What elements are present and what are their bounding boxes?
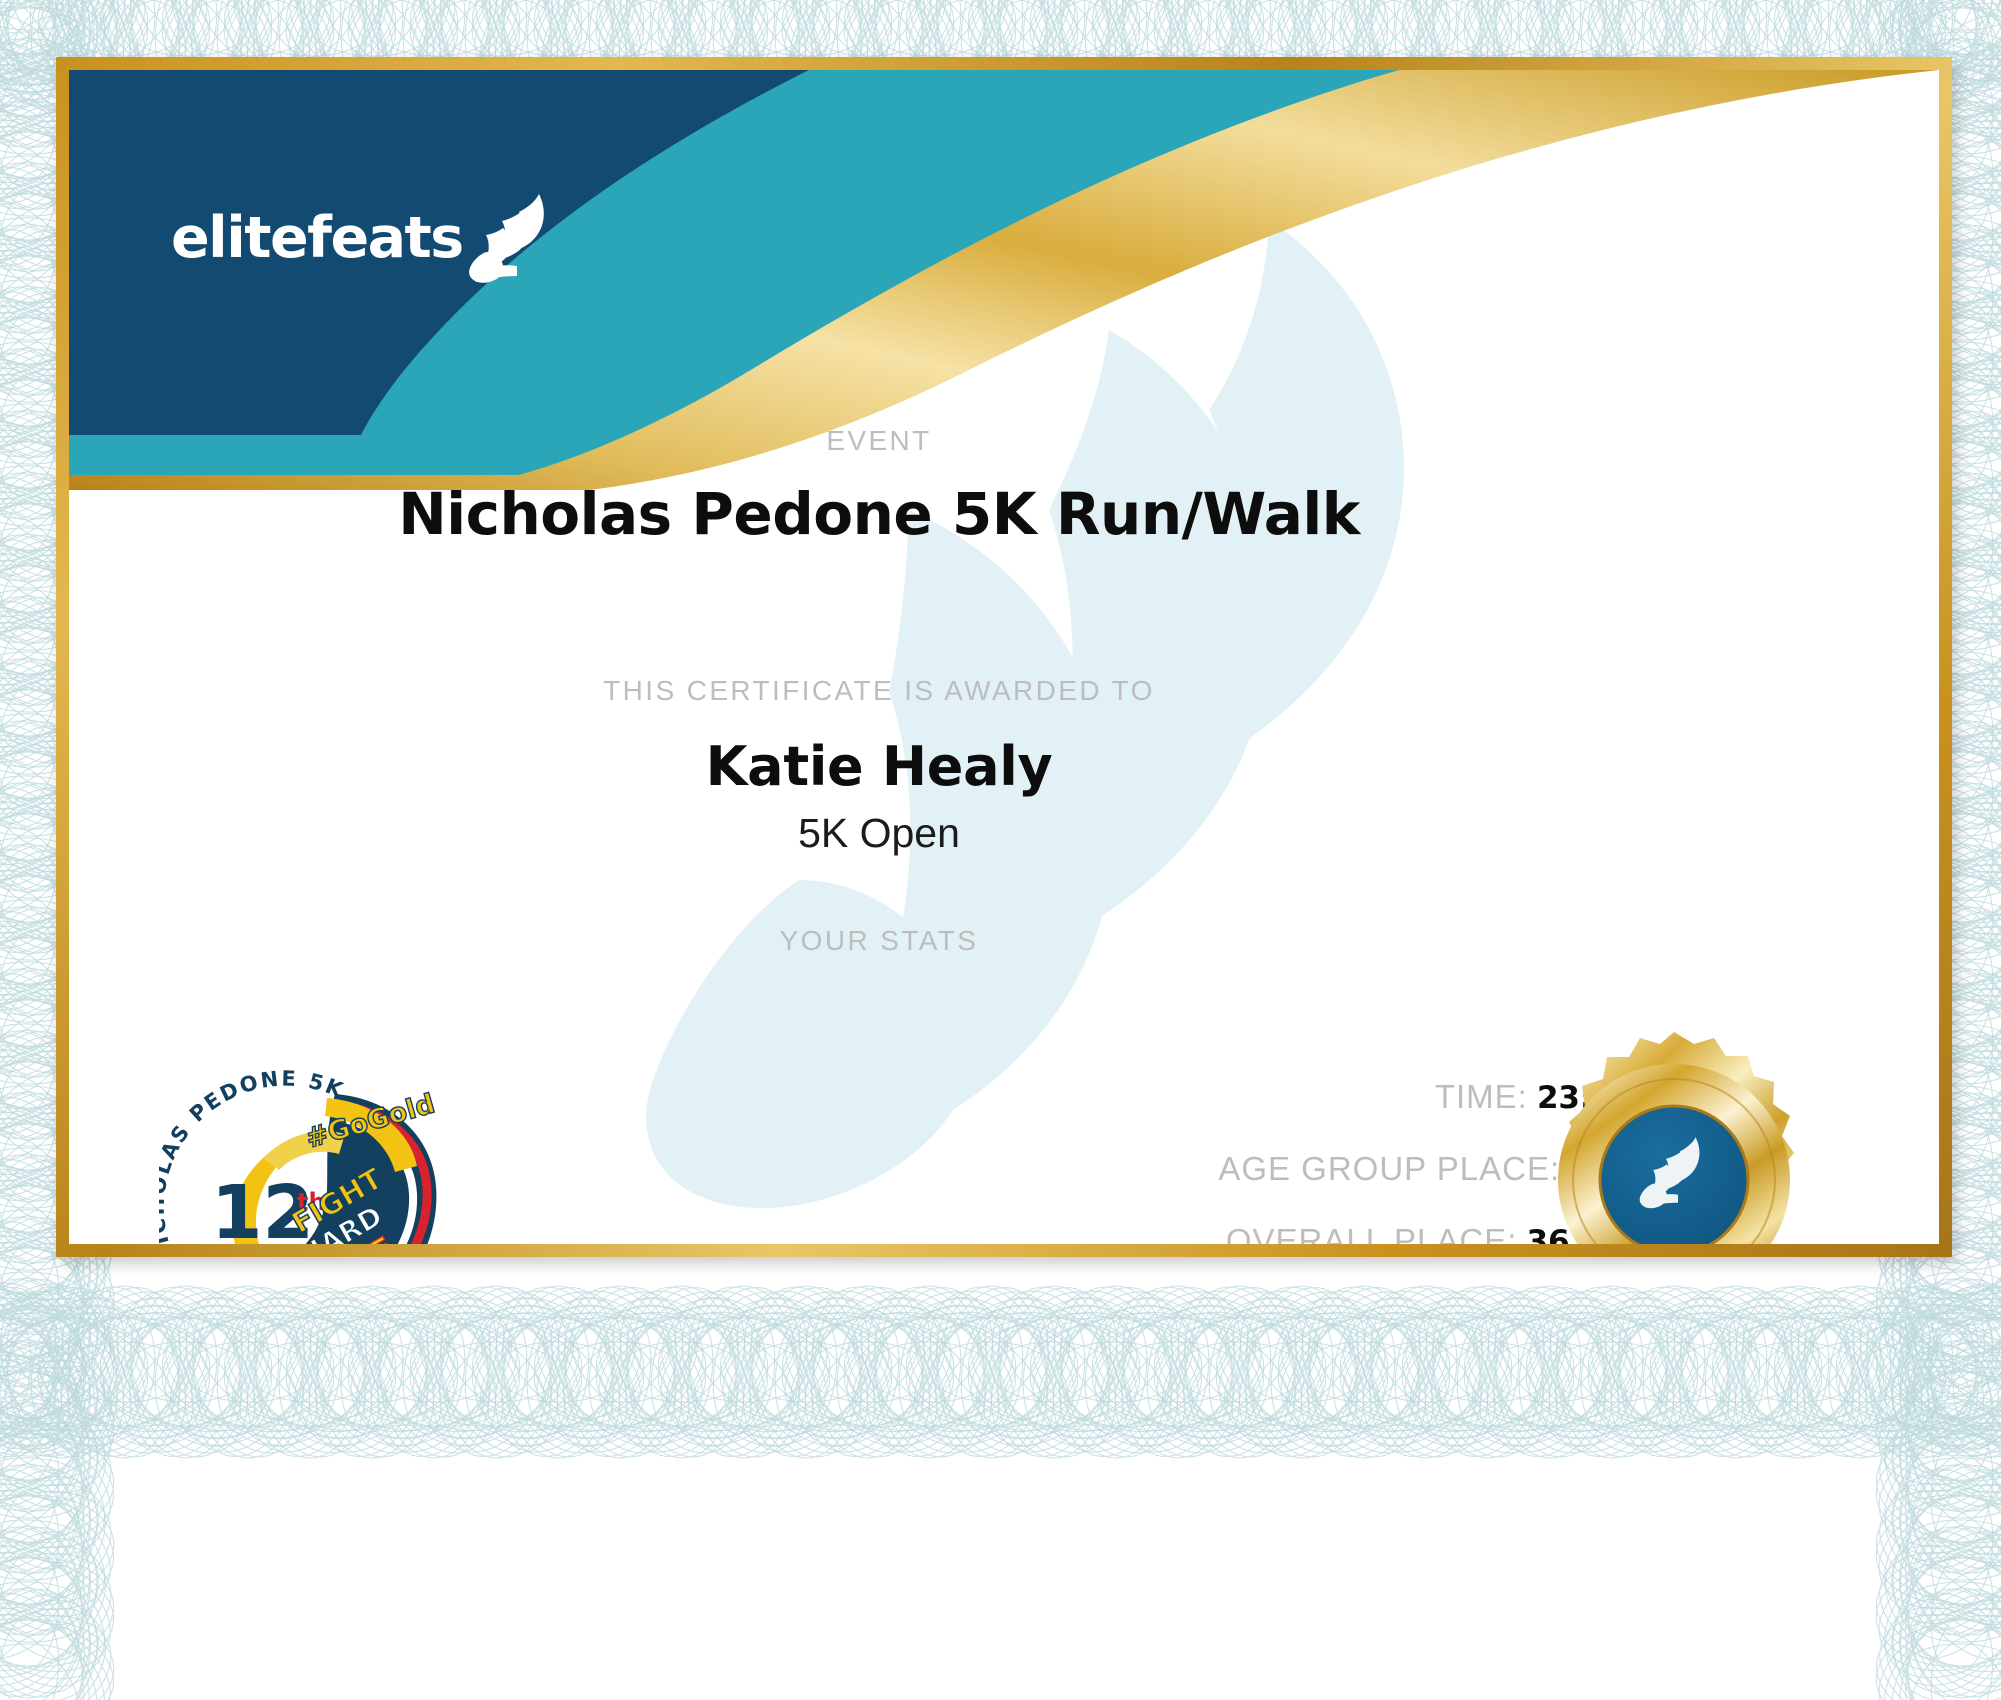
brand-logo: elitefeats bbox=[171, 190, 555, 286]
brand-name: elitefeats bbox=[171, 205, 463, 271]
certificate-page: elitefeats EVENT Nicholas Pedone 5K Run/… bbox=[0, 0, 2001, 1700]
finisher-badge: 2025 bbox=[1464, 1030, 1884, 1244]
winged-foot-icon bbox=[467, 190, 555, 286]
certificate-body: elitefeats EVENT Nicholas Pedone 5K Run/… bbox=[69, 70, 1939, 1244]
race-event-logo: NICHOLAS PEDONE 5K 12 th ANNUAL #GoGold … bbox=[159, 1070, 459, 1244]
finisher-medal-graphic: 2025 bbox=[1529, 1030, 1819, 1244]
